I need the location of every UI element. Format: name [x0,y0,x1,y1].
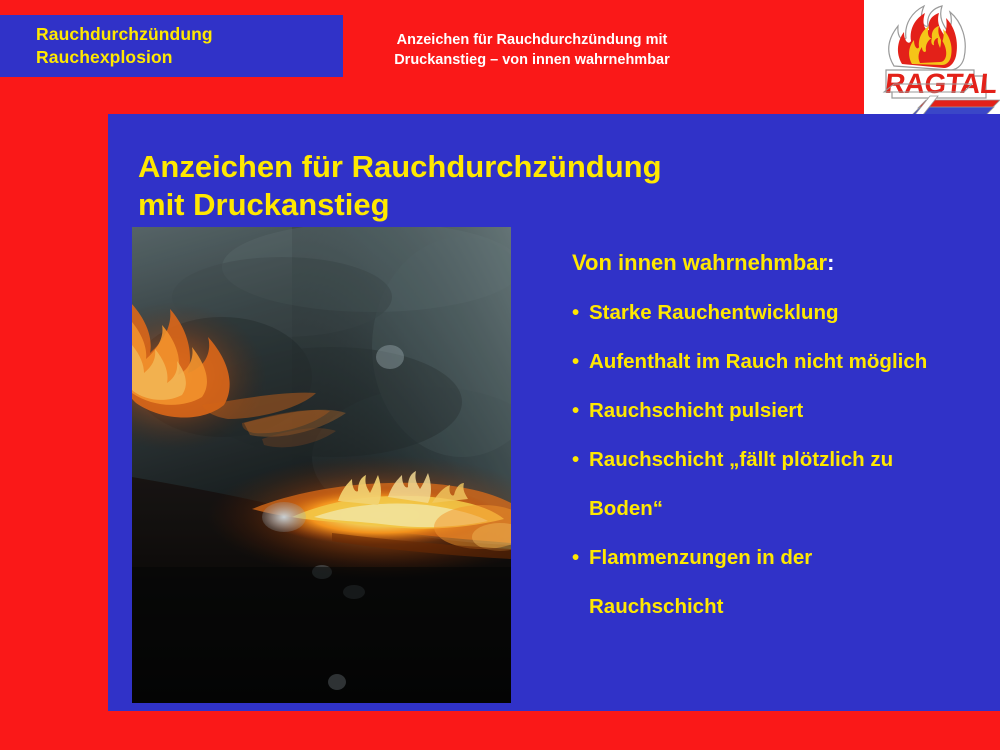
list-item-label: Flammenzungen in der [572,545,992,570]
ragtal-logo-graphic: RAGTAL [864,0,1000,116]
bullet-marker: • [572,398,586,423]
list-item-label: Rauchschicht „fällt plötzlich zu [572,447,992,472]
bullet-list: • Starke Rauchentwicklung • Aufenthalt i… [572,300,992,643]
list-item: • Flammenzungen in der Rauchschicht [572,545,992,619]
header-subtitle: Anzeichen für Rauchdurchzündung mit Druc… [362,30,702,70]
page-title: Anzeichen für Rauchdurchzündung mit Druc… [138,148,858,224]
list-item-label-continuation: Boden“ [572,496,992,521]
ragtal-wordmark: RAGTAL [884,68,999,99]
header-title-box: Rauchdurchzündung Rauchexplosion [0,15,343,77]
flame-icon [889,6,965,70]
ragtal-logo: RAGTAL [864,0,1000,116]
list-heading-text: Von innen wahrnehmbar [572,250,827,275]
list-item-label-continuation: Rauchschicht [572,594,992,619]
list-item: • Starke Rauchentwicklung [572,300,992,325]
list-item: • Rauchschicht pulsiert [572,398,992,423]
bullet-marker: • [572,447,586,472]
list-item: • Rauchschicht „fällt plötzlich zu Boden… [572,447,992,521]
header-title-line-1: Rauchdurchzündung [36,24,213,45]
header-title-line-2: Rauchexplosion [36,47,173,68]
bottom-red-band [0,711,870,750]
fire-photo-image [132,227,511,703]
list-heading: Von innen wahrnehmbar: [572,250,834,276]
list-item-label: Rauchschicht pulsiert [572,398,992,423]
bullet-marker: • [572,349,586,374]
list-item-label: Starke Rauchentwicklung [572,300,992,325]
list-item-label: Aufenthalt im Rauch nicht möglich [572,349,992,374]
fire-photo [132,227,511,703]
list-item: • Aufenthalt im Rauch nicht möglich [572,349,992,374]
bullet-marker: • [572,545,586,570]
slide-canvas: Rauchdurchzündung Rauchexplosion Anzeich… [0,0,1000,750]
list-heading-colon: : [827,250,834,275]
logo-swoosh [912,96,1000,116]
bullet-marker: • [572,300,586,325]
